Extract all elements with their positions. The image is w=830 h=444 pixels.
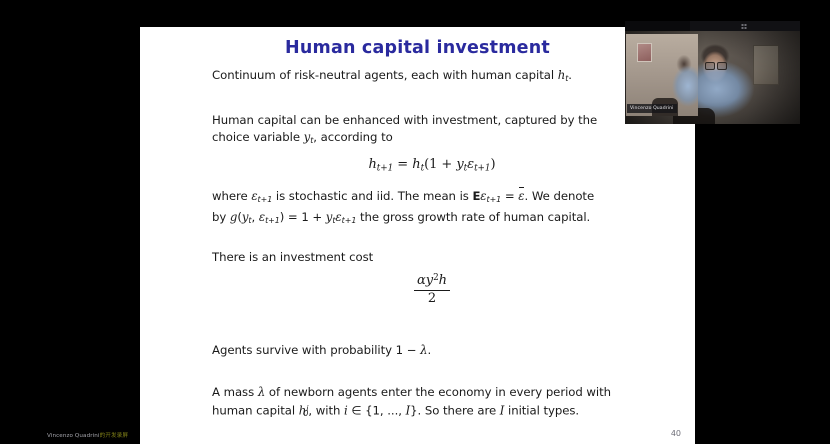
text-run: Human capital can be enhanced with inves… [212,113,597,127]
wall-picture-frame [637,43,652,62]
math-epsilon-bar: ε [518,189,524,203]
paragraph-line: where εt+1 is stochastic and iid. The me… [212,188,652,209]
text-run: }. So there are [410,403,500,417]
text-run: , according to [313,130,392,144]
paragraph-enhanced: Human capital can be enhanced with inves… [212,112,652,149]
text-run: is stochastic and iid. The mean is [272,189,472,203]
text-run: ∈ {1, ..., [348,403,406,417]
paragraph-investment-cost: There is an investment cost [212,249,652,266]
presentation-screen: Human capital investment Continuum of ri… [0,0,830,444]
text-run: human capital [212,403,299,417]
text-run: = [501,189,518,203]
paragraph-continuum: Continuum of risk-neutral agents, each w… [212,67,652,88]
equation-investment-cost: αy2h 2 [212,274,652,306]
fraction-numerator: αy2h [414,274,450,291]
paragraph-line: Human capital can be enhanced with inves… [212,112,652,129]
text-run: . [568,68,572,82]
text-run: Agents survive with probability 1 − [212,343,420,357]
text-run: of newborn agents enter the economy in e… [265,385,611,399]
text-run: Continuum of risk-neutral agents, each w… [212,68,558,82]
slide-canvas: Human capital investment Continuum of ri… [140,27,695,444]
text-run: , [251,210,258,224]
math-epsilon-subscript: t+1 [342,216,357,225]
equation-law-of-motion: ht+1 = ht(1 + ytεt+1) [212,157,652,177]
grip-dots-icon [742,24,749,29]
text-run: choice variable [212,130,304,144]
fraction-denominator: 2 [414,291,450,307]
watermark-suffix: 的开发录屏 [100,433,128,439]
paragraph-survival: Agents survive with probability 1 − λ. [212,342,652,359]
slide-title: Human capital investment [140,38,695,58]
paragraph-line: by g(yt, εt+1) = 1 + ytεt+1 the gross gr… [212,209,652,230]
paragraph-line: choice variable yt, according to [212,129,652,150]
math-epsilon-subscript: t+1 [258,195,273,204]
video-panel-drag-bar[interactable] [690,21,800,31]
slide-content: Human capital investment Continuum of ri… [140,27,695,444]
math-y: y [426,273,433,288]
text-run: by [212,210,230,224]
fraction: αy2h 2 [414,274,450,306]
text-run: where [212,189,251,203]
page-number: 40 [671,429,681,438]
participant-name-badge: Vincenzo Quadrini [627,104,677,113]
text-run: , with [308,403,344,417]
text-run: initial types. [504,403,579,417]
text-run: . We denote [525,189,595,203]
text-run: the gross growth rate of human capital. [356,210,590,224]
paragraph-line: A mass λ of newborn agents enter the eco… [212,384,652,401]
recording-watermark: Vincenzo Quadrini的开发录屏 [47,431,128,439]
math-epsilon-subscript: t+1 [265,216,280,225]
paragraph-stochastic: where εt+1 is stochastic and iid. The me… [212,188,652,229]
paragraph-newborn: A mass λ of newborn agents enter the eco… [212,384,652,423]
math-h: h [439,273,447,288]
text-run: A mass [212,385,258,399]
text-run: There is an investment cost [212,250,373,264]
text-run: . [428,343,432,357]
text-run: = 1 + [284,210,326,224]
paragraph-line: human capital hi0, with i ∈ {1, ..., I}.… [212,401,652,423]
watermark-name: Vincenzo Quadrini [47,433,100,439]
math-lambda: λ [420,343,427,357]
math-alpha: α [417,273,426,288]
math-epsilon-subscript: t+1 [487,195,502,204]
